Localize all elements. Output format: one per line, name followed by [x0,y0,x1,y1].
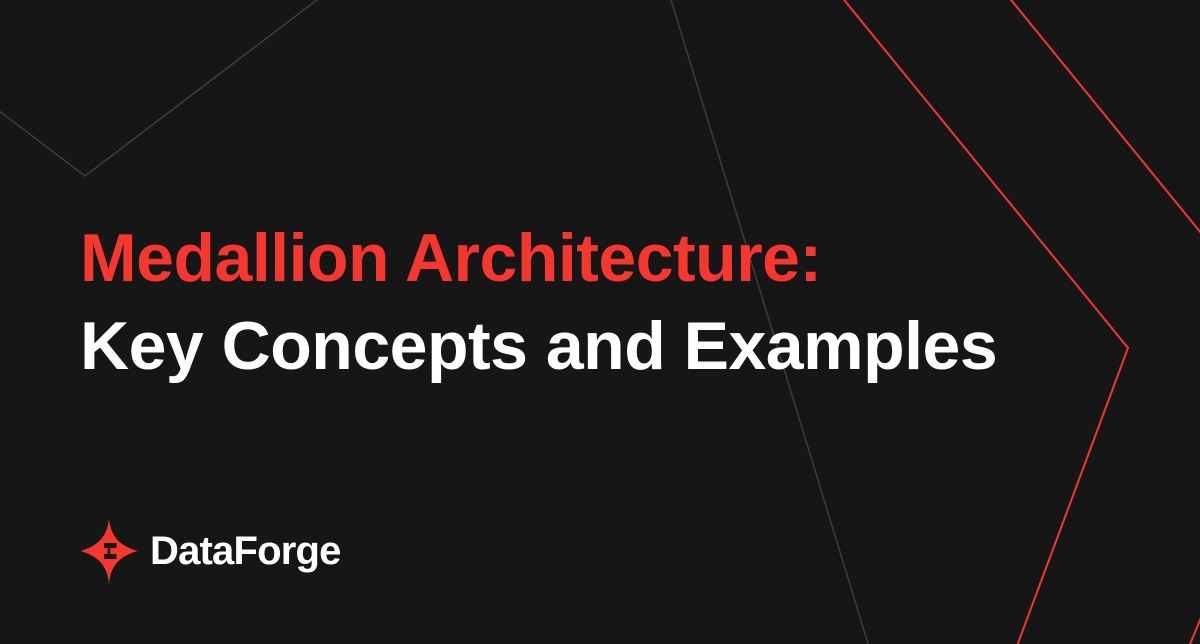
brand-wordmark: DataForge [150,529,341,573]
red-chevron-upper-icon [1003,0,1200,244]
headline-block: Medallion Architecture: Key Concepts and… [80,214,1020,390]
brand-logo-lockup: DataForge [80,518,341,584]
headline-line-primary: Medallion Architecture: [80,214,1020,302]
gray-chevron-left-icon [0,0,330,176]
red-chevron-corner-icon [1186,596,1200,644]
banner-canvas: Medallion Architecture: Key Concepts and… [0,0,1200,644]
dataforge-star-icon [80,518,138,584]
headline-line-secondary: Key Concepts and Examples [80,302,1020,390]
